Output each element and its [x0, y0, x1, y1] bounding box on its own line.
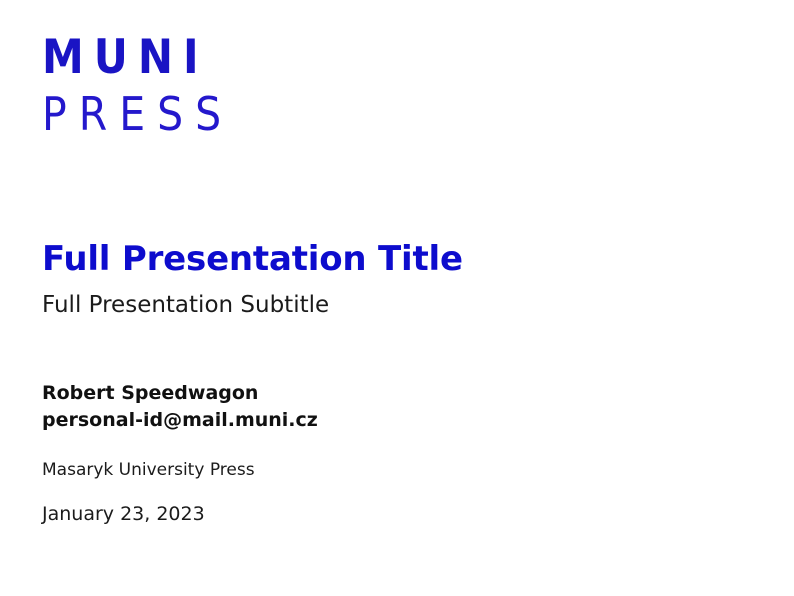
logo-press-wordmark: PRESS: [42, 92, 442, 138]
author-affiliation: Masaryk University Press: [42, 460, 742, 480]
presentation-title-slide: MUNI PRESS Full Presentation Title Full …: [0, 0, 794, 596]
title-content-block: Full Presentation Title Full Presentatio…: [42, 240, 742, 526]
author-block: Robert Speedwagon personal-id@mail.muni.…: [42, 380, 742, 434]
page-subtitle: Full Presentation Subtitle: [42, 292, 742, 320]
muni-press-logo: MUNI PRESS: [42, 34, 442, 133]
presentation-date: January 23, 2023: [42, 503, 742, 526]
page-title: Full Presentation Title: [42, 240, 742, 279]
logo-muni-wordmark: MUNI: [42, 34, 442, 81]
author-name: Robert Speedwagon: [42, 380, 742, 407]
author-email: personal-id@mail.muni.cz: [42, 407, 742, 434]
